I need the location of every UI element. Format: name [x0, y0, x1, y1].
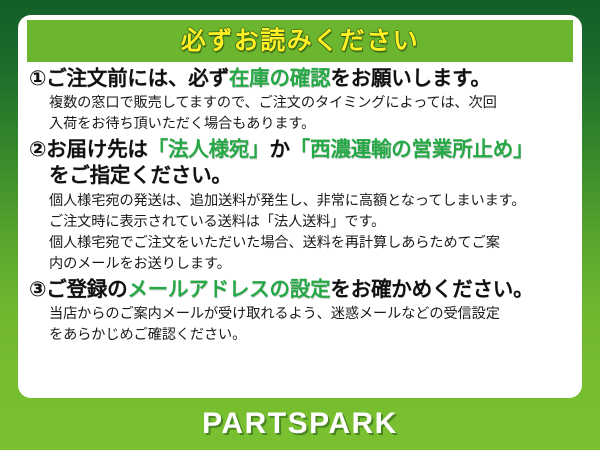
- notice-banner: 必ずお読みください ①ご注文前には、必ず在庫の確認をお願いします。 複数の窓口で…: [0, 0, 600, 450]
- notice-item-1: ①ご注文前には、必ず在庫の確認をお願いします。 複数の窓口で販売してますので、ご…: [29, 66, 571, 135]
- notice-item-2-number: ②: [29, 138, 46, 161]
- notice-item-2-heading: ②お届け先は「法人様宛」か「西濃運輸の営業所止め」: [29, 137, 571, 163]
- notice-item-2-heading-part-1: お届け先は: [46, 138, 148, 161]
- notice-item-2-heading-highlight-2: 「西濃運輸の営業所止め」: [290, 138, 534, 161]
- notice-item-3-heading: ③ご登録のメールアドレスの設定をお確かめください。: [29, 277, 571, 303]
- notice-item-3-body: 当店からのご案内メールが受け取れるよう、迷惑メールなどの受信設定 をあらかじめご…: [49, 304, 571, 346]
- notice-item-2: ②お届け先は「法人様宛」か「西濃運輸の営業所止め」 をご指定ください。 個人様宅…: [29, 137, 571, 275]
- notice-item-2-heading-highlight-1: 「法人様宛」: [148, 138, 270, 161]
- notice-item-1-heading-highlight: 在庫の確認: [229, 67, 331, 90]
- notice-list: ①ご注文前には、必ず在庫の確認をお願いします。 複数の窓口で販売してますので、ご…: [27, 62, 573, 346]
- notice-card: 必ずお読みください ①ご注文前には、必ず在庫の確認をお願いします。 複数の窓口で…: [18, 15, 582, 398]
- notice-item-3: ③ご登録のメールアドレスの設定をお確かめください。 当店からのご案内メールが受け…: [29, 277, 571, 346]
- header-bar: 必ずお読みください: [27, 20, 573, 62]
- notice-item-2-body: 個人様宅宛の発送は、追加送料が発生し、非常に高額となってしまいます。 ご注文時に…: [49, 191, 571, 275]
- notice-item-3-heading-highlight: メールアドレスの設定: [127, 278, 330, 301]
- notice-item-1-heading: ①ご注文前には、必ず在庫の確認をお願いします。: [29, 66, 571, 92]
- notice-item-3-heading-part-1: ご登録の: [46, 278, 127, 301]
- notice-item-1-number: ①: [29, 67, 46, 90]
- notice-item-2-heading-line-2: をご指定ください。: [49, 163, 571, 189]
- brand-logo: PARTSPARK: [202, 409, 398, 439]
- notice-item-1-heading-part-1: ご注文前には、必ず: [46, 67, 229, 90]
- notice-item-2-heading-part-3: か: [269, 138, 289, 161]
- footer: PARTSPARK: [0, 398, 600, 450]
- notice-item-1-body: 複数の窓口で販売してますので、ご注文のタイミングによっては、次回 入荷をお待ち頂…: [49, 93, 571, 135]
- notice-item-3-number: ③: [29, 278, 46, 301]
- notice-item-3-heading-part-3: をお確かめください。: [330, 278, 533, 301]
- header-title: 必ずお読みください: [181, 29, 420, 54]
- notice-item-1-heading-part-3: をお願いします。: [330, 67, 490, 90]
